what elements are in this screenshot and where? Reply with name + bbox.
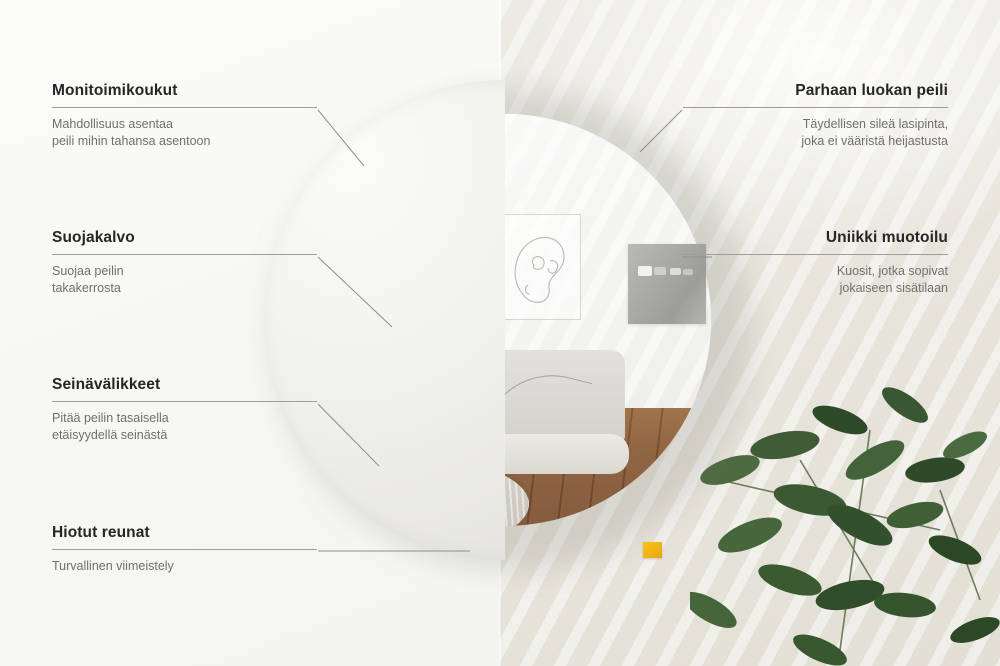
product-mirror [265, 80, 745, 560]
callout-unique-design[interactable]: Uniikki muotoilu Kuosit, jotka sopivat j… [683, 229, 948, 297]
callout-title: Uniikki muotoilu [683, 229, 948, 247]
callout-best-class-mirror[interactable]: Parhaan luokan peili Täydellisen sileä l… [683, 82, 948, 150]
callout-description: Pitää peilin tasaisella etäisyydellä sei… [52, 410, 317, 444]
callout-title: Parhaan luokan peili [683, 82, 948, 100]
callout-title: Hiotut reunat [52, 524, 317, 542]
callout-title: Suojakalvo [52, 229, 317, 247]
callout-rule [683, 107, 948, 108]
infographic-stage: Monitoimikoukut Mahdollisuus asentaa pei… [0, 0, 1000, 666]
callout-multifunction-hooks[interactable]: Monitoimikoukut Mahdollisuus asentaa pei… [52, 82, 317, 150]
callout-protective-film[interactable]: Suojakalvo Suojaa peilin takakerrosta [52, 229, 317, 297]
callout-rule [52, 549, 317, 550]
mirror-back-surface [265, 80, 505, 560]
callout-title: Seinävälikkeet [52, 376, 317, 394]
callout-description: Suojaa peilin takakerrosta [52, 263, 317, 297]
callout-title: Monitoimikoukut [52, 82, 317, 100]
spacer-icon [643, 542, 662, 558]
callout-rule [52, 107, 317, 108]
callout-description: Turvallinen viimeistely [52, 558, 317, 575]
callout-description: Mahdollisuus asentaa peili mihin tahansa… [52, 116, 317, 150]
callout-rule [52, 254, 317, 255]
callout-description: Kuosit, jotka sopivat jokaiseen sisätila… [683, 263, 948, 297]
callout-rule [52, 401, 317, 402]
mirror-back-half [265, 80, 505, 560]
callout-rule [683, 254, 948, 255]
hook-icon [654, 267, 666, 275]
hook-icon [638, 266, 652, 276]
callout-description: Täydellisen sileä lasipinta, joka ei vää… [683, 116, 948, 150]
callout-polished-edges[interactable]: Hiotut reunat Turvallinen viimeistely [52, 524, 317, 575]
callout-wall-spacers[interactable]: Seinävälikkeet Pitää peilin tasaisella e… [52, 376, 317, 444]
hook-icon [670, 268, 681, 275]
